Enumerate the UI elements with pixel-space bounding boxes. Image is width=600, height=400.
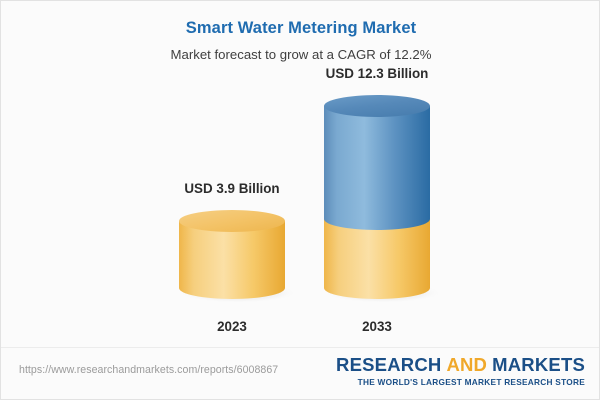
research-and-markets-logo[interactable]: RESEARCHANDMARKETS THE WORLD'S LARGEST M… (336, 354, 585, 387)
value-label-2033: USD 12.3 Billion (267, 66, 487, 81)
plot-area: USD 3.9 Billion (1, 1, 600, 349)
logo-tagline: THE WORLD'S LARGEST MARKET RESEARCH STOR… (336, 377, 585, 387)
logo-wordmark: RESEARCHANDMARKETS (336, 354, 585, 376)
logo-word-and: AND (446, 354, 487, 375)
bar-group-2033: USD 12.3 Billion (261, 66, 493, 306)
logo-word-markets: MARKETS (492, 354, 585, 375)
logo-word-research: RESEARCH (336, 354, 441, 375)
cylinder-2033 (261, 91, 493, 306)
market-forecast-chart-card: Smart Water Metering Market Market forec… (0, 0, 600, 400)
footer: https://www.researchandmarkets.com/repor… (1, 347, 600, 399)
category-label-2033: 2033 (267, 319, 487, 334)
report-url[interactable]: https://www.researchandmarkets.com/repor… (19, 364, 278, 376)
